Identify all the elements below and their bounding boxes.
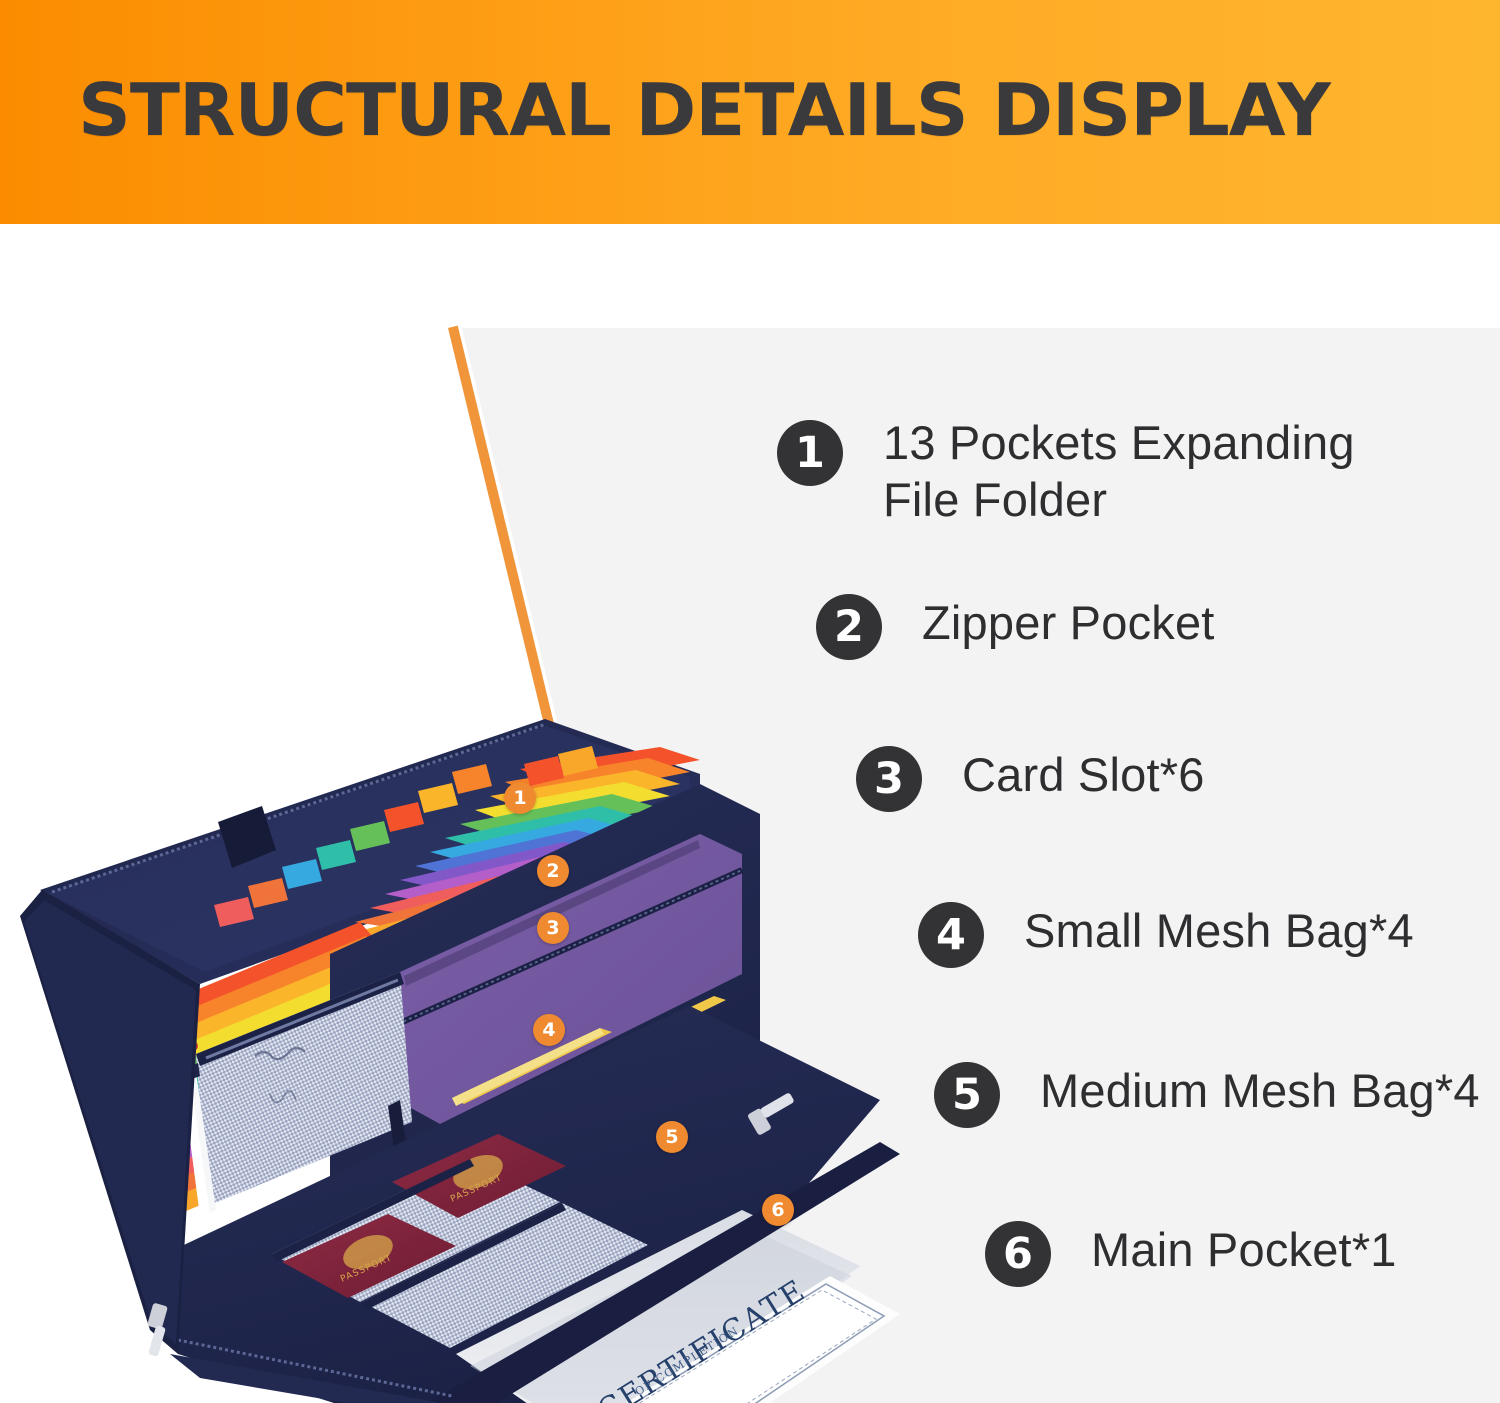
feature-badge-6: 6 xyxy=(985,1221,1051,1287)
feature-label-1: 13 Pockets Expanding File Folder xyxy=(883,414,1355,528)
content-panel: PASSPORT PASSPORT xyxy=(0,224,1500,1403)
feature-label-5: Medium Mesh Bag*4 xyxy=(1040,1062,1480,1119)
feature-badge-5: 5 xyxy=(934,1062,1000,1128)
feature-list: 1 13 Pockets Expanding File Folder 2 Zip… xyxy=(0,224,1500,1403)
feature-badge-3: 3 xyxy=(856,746,922,812)
feature-item-3: 3 Card Slot*6 xyxy=(856,746,1205,812)
feature-badge-1: 1 xyxy=(777,420,843,486)
feature-label-4: Small Mesh Bag*4 xyxy=(1024,902,1414,959)
feature-label-6: Main Pocket*1 xyxy=(1091,1221,1397,1278)
header-banner: STRUCTURAL DETAILS DISPLAY xyxy=(0,0,1500,224)
feature-item-5: 5 Medium Mesh Bag*4 xyxy=(934,1062,1480,1128)
page-title: STRUCTURAL DETAILS DISPLAY xyxy=(78,60,1330,160)
infographic-page: STRUCTURAL DETAILS DISPLAY xyxy=(0,0,1500,1403)
feature-item-1: 1 13 Pockets Expanding File Folder xyxy=(777,420,1355,528)
feature-label-3: Card Slot*6 xyxy=(962,746,1205,803)
feature-item-4: 4 Small Mesh Bag*4 xyxy=(918,902,1414,968)
feature-item-2: 2 Zipper Pocket xyxy=(816,594,1215,660)
feature-badge-4: 4 xyxy=(918,902,984,968)
feature-label-2: Zipper Pocket xyxy=(922,594,1215,651)
feature-badge-2: 2 xyxy=(816,594,882,660)
feature-item-6: 6 Main Pocket*1 xyxy=(985,1221,1397,1287)
